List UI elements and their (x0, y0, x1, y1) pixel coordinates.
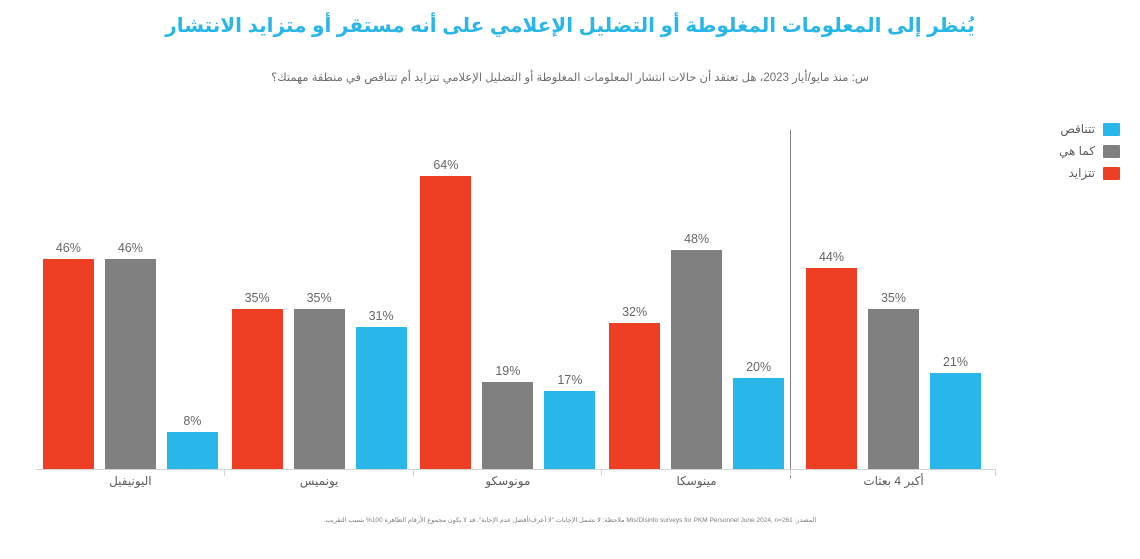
chart-legend: تتناقص كما هي تتزايد (1000, 118, 1120, 184)
bar-value-label: 8% (183, 414, 201, 428)
x-axis-label: يونميس (225, 474, 414, 488)
bar-value-label: 31% (369, 309, 394, 323)
x-axis-labels: أكبر 4 بعثاتمينوسكامونوسكويونميساليونيفي… (36, 474, 996, 488)
x-axis-label: اليونيفيل (36, 474, 225, 488)
x-axis-label: مونوسكو (414, 474, 603, 488)
bar-item[interactable]: 32% (609, 118, 660, 469)
chart-container: يُنظر إلى المعلومات المغلوطة أو التضليل … (0, 0, 1140, 559)
bar-item[interactable]: 35% (232, 118, 283, 469)
bar-group: 21%35%44% (791, 118, 996, 469)
legend-label-increasing: تتزايد (1068, 166, 1095, 180)
bar-item[interactable]: 19% (482, 118, 533, 469)
bar-item[interactable]: 46% (43, 118, 94, 469)
bar-value-label: 32% (622, 305, 647, 319)
bar[interactable] (43, 259, 94, 469)
bar-value-label: 35% (881, 291, 906, 305)
legend-item-same[interactable]: كما هي (1000, 140, 1120, 162)
bar-value-label: 44% (819, 250, 844, 264)
bar[interactable] (733, 378, 784, 469)
bar-value-label: 46% (56, 241, 81, 255)
bar-item[interactable]: 21% (930, 118, 981, 469)
bar[interactable] (930, 373, 981, 469)
legend-label-same: كما هي (1059, 144, 1095, 158)
bar-value-label: 64% (433, 158, 458, 172)
bar-value-label: 20% (746, 360, 771, 374)
bar-item[interactable]: 35% (868, 118, 919, 469)
bar-item[interactable]: 35% (294, 118, 345, 469)
bar-group: 17%19%64% (414, 118, 603, 469)
bar-groups: 21%35%44%20%48%32%17%19%64%31%35%35%8%46… (36, 118, 996, 469)
bar-value-label: 21% (943, 355, 968, 369)
x-axis-label: مينوسكا (602, 474, 791, 488)
legend-swatch-same (1103, 145, 1120, 158)
bar[interactable] (482, 382, 533, 469)
legend-item-increasing[interactable]: تتزايد (1000, 162, 1120, 184)
bar-item[interactable]: 20% (733, 118, 784, 469)
bar[interactable] (232, 309, 283, 469)
bar[interactable] (167, 432, 218, 469)
bar-item[interactable]: 17% (544, 118, 595, 469)
bar[interactable] (420, 176, 471, 469)
bar-value-label: 17% (557, 373, 582, 387)
plot-area: 21%35%44%20%48%32%17%19%64%31%35%35%8%46… (36, 118, 996, 470)
bar[interactable] (806, 268, 857, 469)
bar-group: 20%48%32% (602, 118, 791, 469)
legend-swatch-increasing (1103, 167, 1120, 180)
bar-value-label: 48% (684, 232, 709, 246)
bar[interactable] (609, 323, 660, 469)
bar[interactable] (544, 391, 595, 469)
x-axis-line (36, 469, 996, 470)
bar-value-label: 35% (307, 291, 332, 305)
bar-value-label: 35% (245, 291, 270, 305)
legend-item-decreasing[interactable]: تتناقص (1000, 118, 1120, 140)
legend-label-decreasing: تتناقص (1060, 122, 1095, 136)
bar-item[interactable]: 46% (105, 118, 156, 469)
chart-footnote: المصدر: Mis/Disinfo surveys for PKM Pers… (0, 516, 1140, 526)
legend-swatch-decreasing (1103, 123, 1120, 136)
bar-item[interactable]: 48% (671, 118, 722, 469)
bar[interactable] (868, 309, 919, 469)
bar[interactable] (671, 250, 722, 469)
bar-value-label: 46% (118, 241, 143, 255)
bar-group: 8%46%46% (36, 118, 225, 469)
bar[interactable] (105, 259, 156, 469)
bar-item[interactable]: 31% (356, 118, 407, 469)
chart-subtitle: س: منذ مايو/أيار 2023، هل تعتقد أن حالات… (0, 70, 1140, 84)
bar-item[interactable]: 64% (420, 118, 471, 469)
bar-value-label: 19% (495, 364, 520, 378)
bar-item[interactable]: 44% (806, 118, 857, 469)
bar-group: 31%35%35% (225, 118, 414, 469)
bar[interactable] (294, 309, 345, 469)
bar[interactable] (356, 327, 407, 469)
bar-item[interactable]: 8% (167, 118, 218, 469)
x-axis-label: أكبر 4 بعثات (791, 474, 996, 488)
chart-title: يُنظر إلى المعلومات المغلوطة أو التضليل … (0, 12, 1140, 40)
